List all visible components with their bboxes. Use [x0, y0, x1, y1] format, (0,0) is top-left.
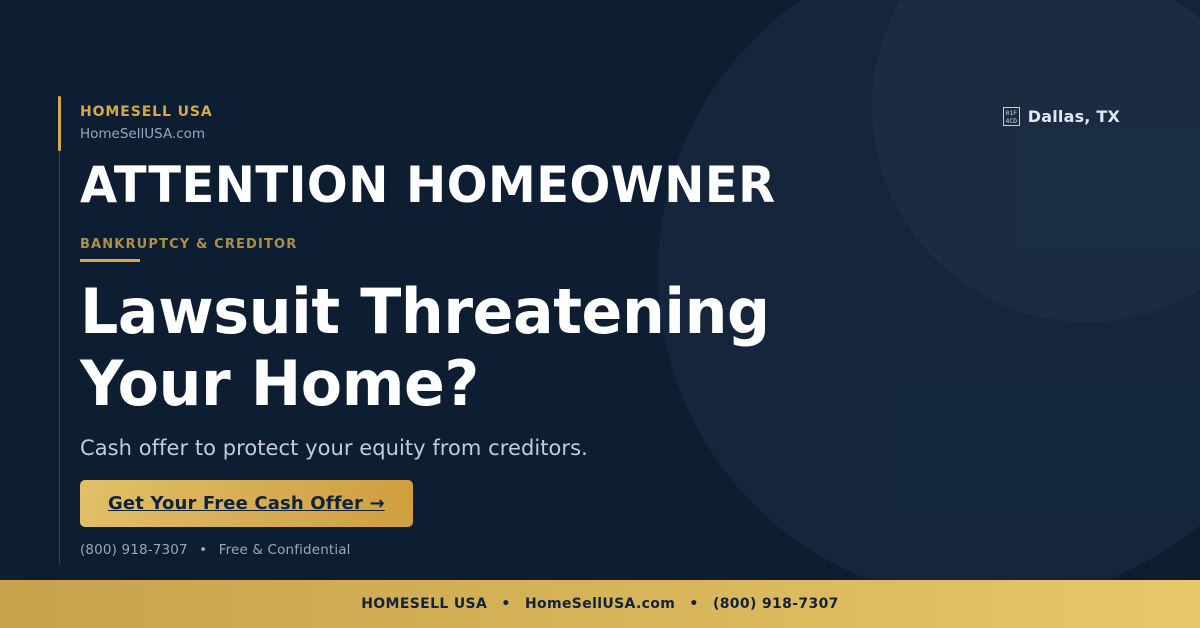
location-label: Dallas, TX: [1028, 107, 1120, 126]
get-free-cash-offer-button[interactable]: Get Your Free Cash Offer →: [80, 480, 413, 527]
footer-separator-1: •: [501, 596, 510, 612]
footer-website[interactable]: HomeSellUSA.com: [525, 596, 675, 612]
footer-brand: HOMESELL USA: [361, 596, 487, 612]
contact-separator: •: [199, 542, 207, 558]
pin-icon-codepoint-bottom: 4CD: [1006, 117, 1017, 125]
eyebrow-underline: [80, 259, 140, 262]
brand-website: HomeSellUSA.com: [80, 128, 213, 142]
footer-separator-2: •: [689, 596, 698, 612]
footer-phone[interactable]: (800) 918-7307: [713, 596, 839, 612]
pin-icon-codepoint-top: 01F: [1006, 109, 1017, 117]
subheadline: Cash offer to protect your equity from c…: [80, 435, 588, 461]
left-rail-line: [59, 96, 60, 564]
footer-bar: HOMESELL USA • HomeSellUSA.com • (800) 9…: [0, 580, 1200, 628]
pin-icon: 01F 4CD: [1003, 107, 1020, 126]
brand-block: HOMESELL USA HomeSellUSA.com: [80, 105, 213, 142]
contact-phone[interactable]: (800) 918-7307: [80, 542, 188, 558]
brand-row: HOMESELL USA HomeSellUSA.com 01F 4CD Dal…: [80, 105, 1120, 142]
left-rail-accent: [58, 96, 61, 151]
page-title: Lawsuit Threatening Your Home?: [80, 276, 856, 420]
ad-content: HOMESELL USA HomeSellUSA.com 01F 4CD Dal…: [80, 0, 1120, 580]
contact-note: Free & Confidential: [219, 542, 351, 558]
contact-line: (800) 918-7307 • Free & Confidential: [80, 542, 351, 558]
category-eyebrow: BANKRUPTCY & CREDITOR: [80, 238, 297, 251]
location-badge: 01F 4CD Dallas, TX: [1003, 107, 1120, 126]
attention-banner: ATTENTION HOMEOWNER: [80, 160, 776, 210]
footer-text: HOMESELL USA • HomeSellUSA.com • (800) 9…: [361, 596, 839, 612]
ad-banner: HOMESELL USA HomeSellUSA.com 01F 4CD Dal…: [0, 0, 1200, 628]
brand-name: HOMESELL USA: [80, 105, 213, 119]
